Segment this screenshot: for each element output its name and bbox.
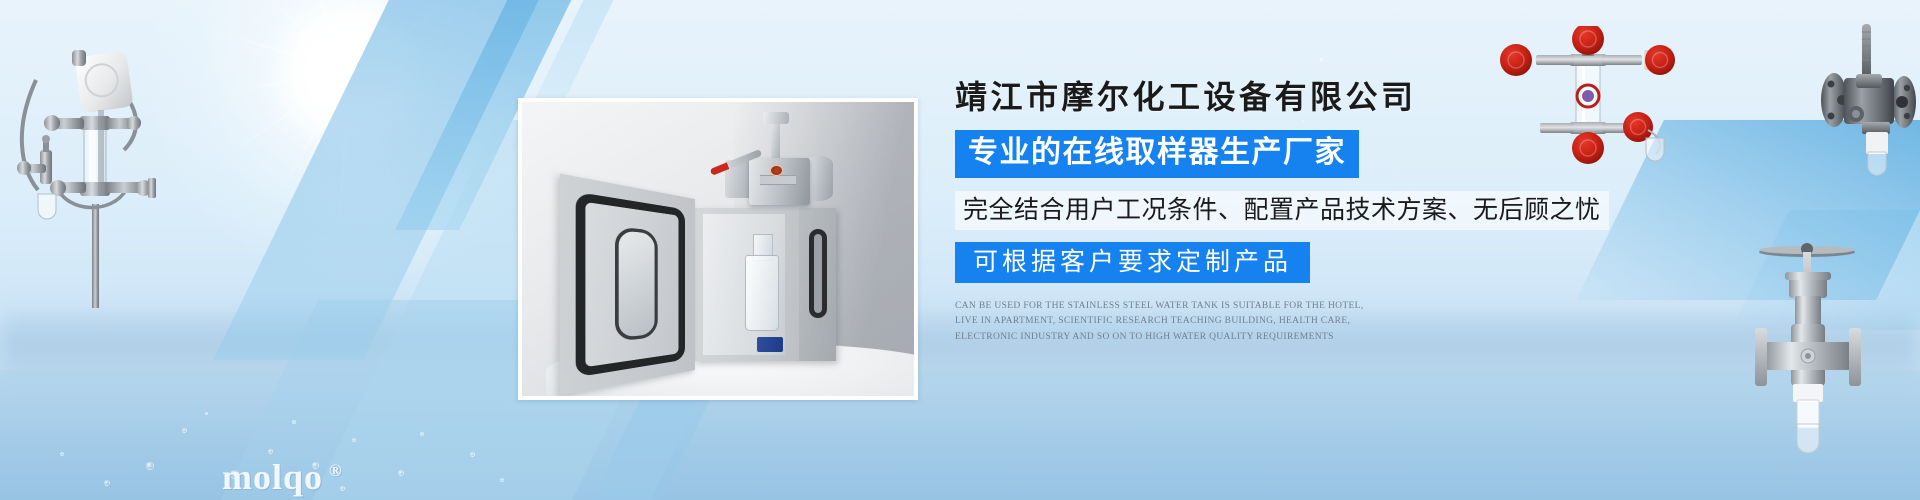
photo-sample-bottle <box>745 255 778 331</box>
photo-valve-seal <box>770 165 783 177</box>
sampler-assembly-icon <box>6 18 186 308</box>
bubble <box>420 432 424 436</box>
tagline-badge: 可根据客户要求定制产品 <box>955 242 1310 283</box>
bubble <box>292 420 296 424</box>
promo-banner: 靖江市摩尔化工设备有限公司 专业的在线取样器生产厂家 完全结合用户工况条件、配置… <box>0 0 1920 500</box>
bubble <box>182 428 187 433</box>
watermark-text: molqo <box>222 457 323 497</box>
brand-watermark: molqo® <box>222 456 343 498</box>
bubble <box>268 449 273 454</box>
flanged-valve-icon <box>1812 22 1920 182</box>
tagline-row: 可根据客户要求定制产品 <box>955 242 1595 283</box>
inline-valve-icon <box>1745 232 1870 482</box>
bubble <box>500 478 504 482</box>
photo-cabinet-door <box>560 174 695 395</box>
bubble <box>146 462 154 470</box>
product-left-sampler-assembly <box>6 18 186 308</box>
banner-copy: 靖江市摩尔化工设备有限公司 专业的在线取样器生产厂家 完全结合用户工况条件、配置… <box>955 78 1595 345</box>
subline-text: 完全结合用户工况条件、配置产品技术方案、无后顾之忧 <box>955 191 1609 230</box>
headline-row: 专业的在线取样器生产厂家 <box>955 130 1595 178</box>
bubble <box>104 480 110 486</box>
center-product-photo <box>518 98 918 400</box>
photo-valve-knob <box>763 112 789 125</box>
bubble <box>1320 58 1323 61</box>
photo-blue-cap <box>757 337 782 352</box>
bubble <box>60 452 64 456</box>
photo-door-window <box>615 226 658 342</box>
photo-enclosure-gasket <box>809 229 827 318</box>
photo-valve-label <box>760 175 795 185</box>
headline-badge: 专业的在线取样器生产厂家 <box>955 130 1359 178</box>
english-description: CAN BE USED FOR THE STAINLESS STEEL WATE… <box>955 299 1387 345</box>
photo-sampling-valve <box>718 114 836 220</box>
bubble <box>470 452 475 457</box>
bubble <box>398 470 404 476</box>
registered-mark-icon: ® <box>329 461 343 480</box>
product-inline-sampling-valve <box>1745 232 1870 482</box>
bubble <box>205 412 208 415</box>
photo-inner <box>522 102 914 396</box>
photo-door-gasket <box>575 192 685 378</box>
company-name: 靖江市摩尔化工设备有限公司 <box>955 78 1595 116</box>
subline-row: 完全结合用户工况条件、配置产品技术方案、无后顾之忧 <box>955 191 1595 230</box>
product-flanged-valve <box>1812 22 1920 182</box>
bubble <box>352 438 356 442</box>
